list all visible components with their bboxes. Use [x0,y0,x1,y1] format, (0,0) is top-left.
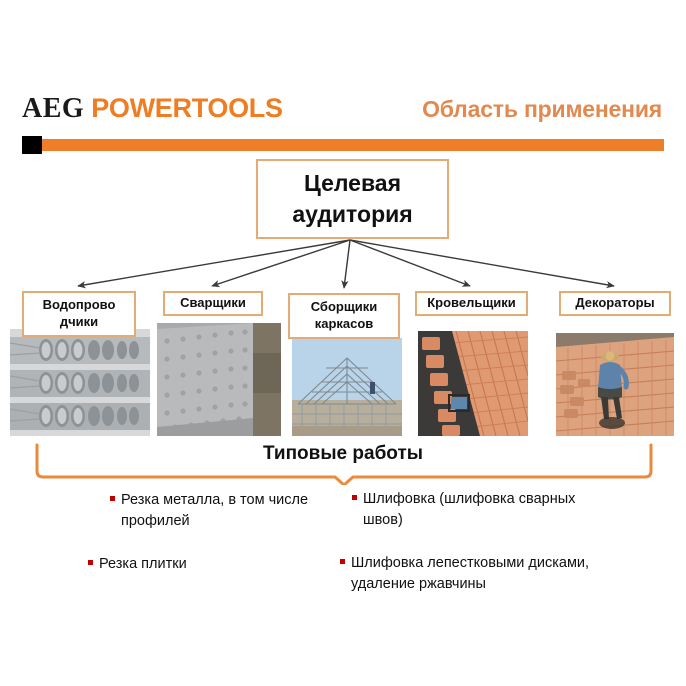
works-list-left: Резка металла, в том числе профилей Резк… [110,490,325,589]
photo-checker-plate-metal-sheet [157,323,281,436]
slide-header: AEGPOWERTOOLS Область применения [0,95,686,160]
steel-truss-illustration [292,338,402,436]
photo-steel-roof-truss-frame [292,338,402,436]
logo-powertools-text: POWERTOOLS [91,93,283,123]
header-orange-bar [40,139,664,151]
target-audience-line-2: аудитория [292,199,412,230]
header-rule [22,136,664,153]
header-black-square [22,136,42,154]
arrow-to-assemblers [344,240,350,288]
arrow-to-roofers [350,240,470,286]
category-box-welders[interactable]: Сварщики [163,291,263,316]
category-label-welders: Сварщики [180,295,246,312]
roof-tiles-illustration [418,331,528,436]
category-box-roofers[interactable]: Кровельщики [415,291,528,316]
work-item: Резка металла, в том числе профилей [110,490,325,532]
slide-canvas: AEGPOWERTOOLS Область применения Целевая… [0,0,686,686]
works-list-right: Шлифовка (шлифовка сварных швов) Шлифовк… [352,489,617,609]
photo-stacked-gray-pipes [10,329,150,436]
photo-worker-on-tiled-roof [556,333,674,436]
category-box-plumbers[interactable]: Водопрово дчики [22,291,136,337]
arrow-to-welders [212,240,350,286]
category-label-roofers: Кровельщики [427,295,516,312]
logo-aeg-text: AEG [22,93,84,124]
category-label-frame-assemblers: Сборщики каркасов [290,299,398,333]
arrow-to-decorators [350,240,614,286]
aeg-powertools-logo: AEGPOWERTOOLS [22,95,283,123]
roof-worker-illustration [556,333,674,436]
page-title: Область применения [422,96,662,123]
target-audience-line-1: Целевая [304,168,401,199]
stacked-gray-pipes-illustration [10,329,150,436]
checker-plate-illustration [157,323,281,436]
work-item: Резка плитки [88,554,325,575]
category-box-frame-assemblers[interactable]: Сборщики каркасов [288,293,400,339]
work-item: Шлифовка (шлифовка сварных швов) [352,489,617,531]
typical-works-heading: Типовые работы [0,443,686,465]
category-box-decorators[interactable]: Декораторы [559,291,671,316]
category-label-plumbers: Водопрово дчики [24,297,134,331]
arrow-to-plumbers [78,240,350,286]
target-audience-box: Целевая аудитория [256,159,449,239]
audience-arrows [0,236,686,298]
category-label-decorators: Декораторы [575,295,654,312]
work-item: Шлифовка лепестковыми дисками, удаление … [340,553,617,595]
photo-terracotta-roof-tiles [418,331,528,436]
